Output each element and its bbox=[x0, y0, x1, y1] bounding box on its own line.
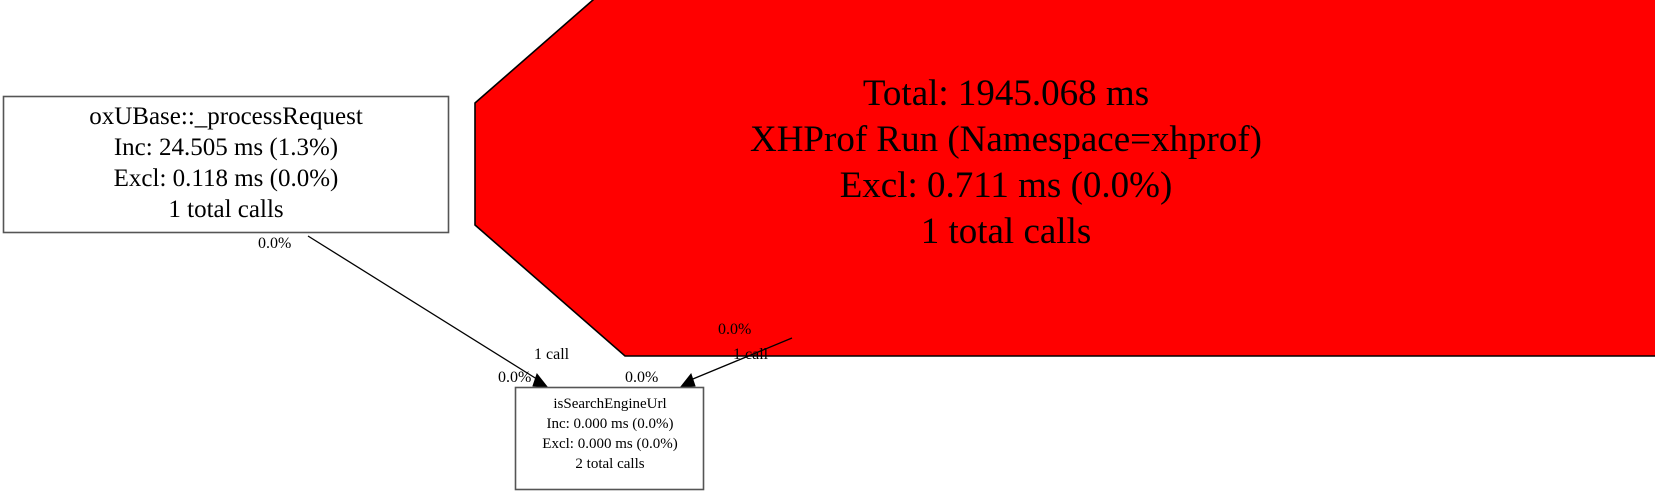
callgraph-canvas: oxUBase::_processRequest Inc: 24.505 ms … bbox=[0, 0, 1655, 496]
edge-path bbox=[308, 236, 540, 381]
node-exclusive-time: Excl: 0.711 ms (0.0%) bbox=[840, 165, 1173, 206]
node-xhprof-run-root[interactable]: Total: 1945.068 ms XHProf Run (Namespace… bbox=[475, 0, 1655, 356]
edge-mid-percent-label: 0.0% bbox=[625, 369, 658, 386]
node-is-search-engine-url[interactable]: isSearchEngineUrl Inc: 0.000 ms (0.0%) E… bbox=[516, 388, 704, 490]
edge-arrowhead-icon bbox=[533, 374, 548, 388]
edge-tail-percent-label: 0.0% bbox=[258, 235, 291, 252]
node-exclusive-time: Excl: 0.000 ms (0.0%) bbox=[542, 436, 677, 452]
node-title: oxUBase::_processRequest bbox=[89, 103, 363, 130]
node-title: XHProf Run (Namespace=xhprof) bbox=[750, 119, 1262, 160]
edge-call-count-label: 1 call bbox=[733, 346, 769, 363]
node-exclusive-time: Excl: 0.118 ms (0.0%) bbox=[114, 165, 339, 192]
node-total-calls: 1 total calls bbox=[921, 211, 1092, 252]
edge-tail-percent-label: 0.0% bbox=[718, 321, 751, 338]
node-inclusive-time: Inc: 24.505 ms (1.3%) bbox=[114, 134, 338, 161]
node-total-calls: 1 total calls bbox=[168, 196, 283, 223]
node-inclusive-time: Inc: 0.000 ms (0.0%) bbox=[546, 416, 673, 432]
node-title: isSearchEngineUrl bbox=[553, 396, 666, 412]
node-total-calls: 2 total calls bbox=[575, 456, 644, 472]
callgraph-svg: oxUBase::_processRequest Inc: 24.505 ms … bbox=[0, 0, 1655, 496]
node-ox-u-base-process-request[interactable]: oxUBase::_processRequest Inc: 24.505 ms … bbox=[4, 97, 449, 233]
edge-arrowhead-icon bbox=[680, 374, 695, 388]
edge-mid-percent-label: 0.0% bbox=[498, 369, 531, 386]
node-total-time: Total: 1945.068 ms bbox=[863, 73, 1149, 114]
edge-call-count-label: 1 call bbox=[534, 346, 570, 363]
